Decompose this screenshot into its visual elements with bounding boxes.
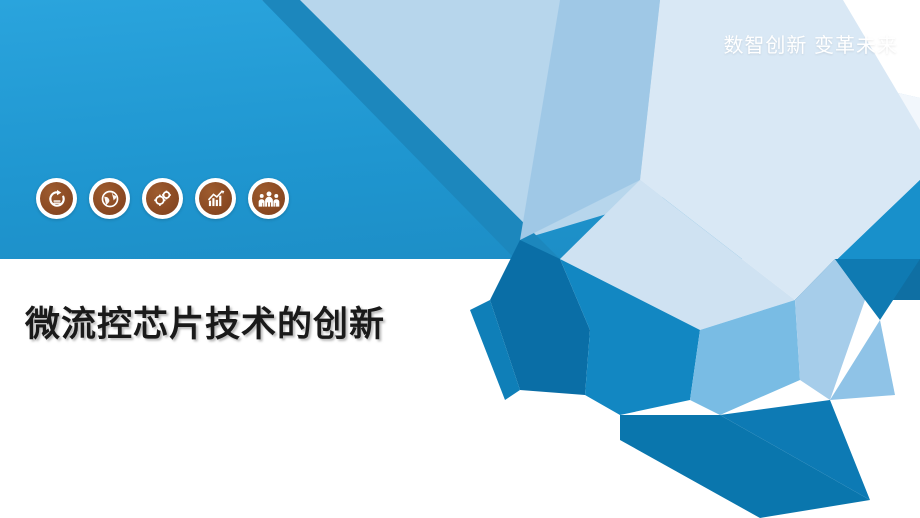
page-title: 微流控芯片技术的创新 <box>25 296 385 347</box>
presentation-slide: 数智创新 变革未来 <box>0 0 920 518</box>
globe-icon-disc <box>93 182 126 215</box>
team-group-icon[interactable] <box>248 178 289 219</box>
refresh-cycle-icon-disc <box>40 182 73 215</box>
globe-icon[interactable] <box>89 178 130 219</box>
bar-chart-icon[interactable] <box>195 178 236 219</box>
slide-tagline: 数智创新 变革未来 <box>723 29 898 58</box>
low-poly-background-graphic <box>0 0 920 518</box>
bar-chart-icon-disc <box>199 182 232 215</box>
gears-icon[interactable] <box>142 178 183 219</box>
refresh-cycle-icon[interactable] <box>36 178 77 219</box>
team-group-icon-disc <box>252 182 285 215</box>
feature-icon-row <box>36 178 289 219</box>
gears-icon-disc <box>146 182 179 215</box>
